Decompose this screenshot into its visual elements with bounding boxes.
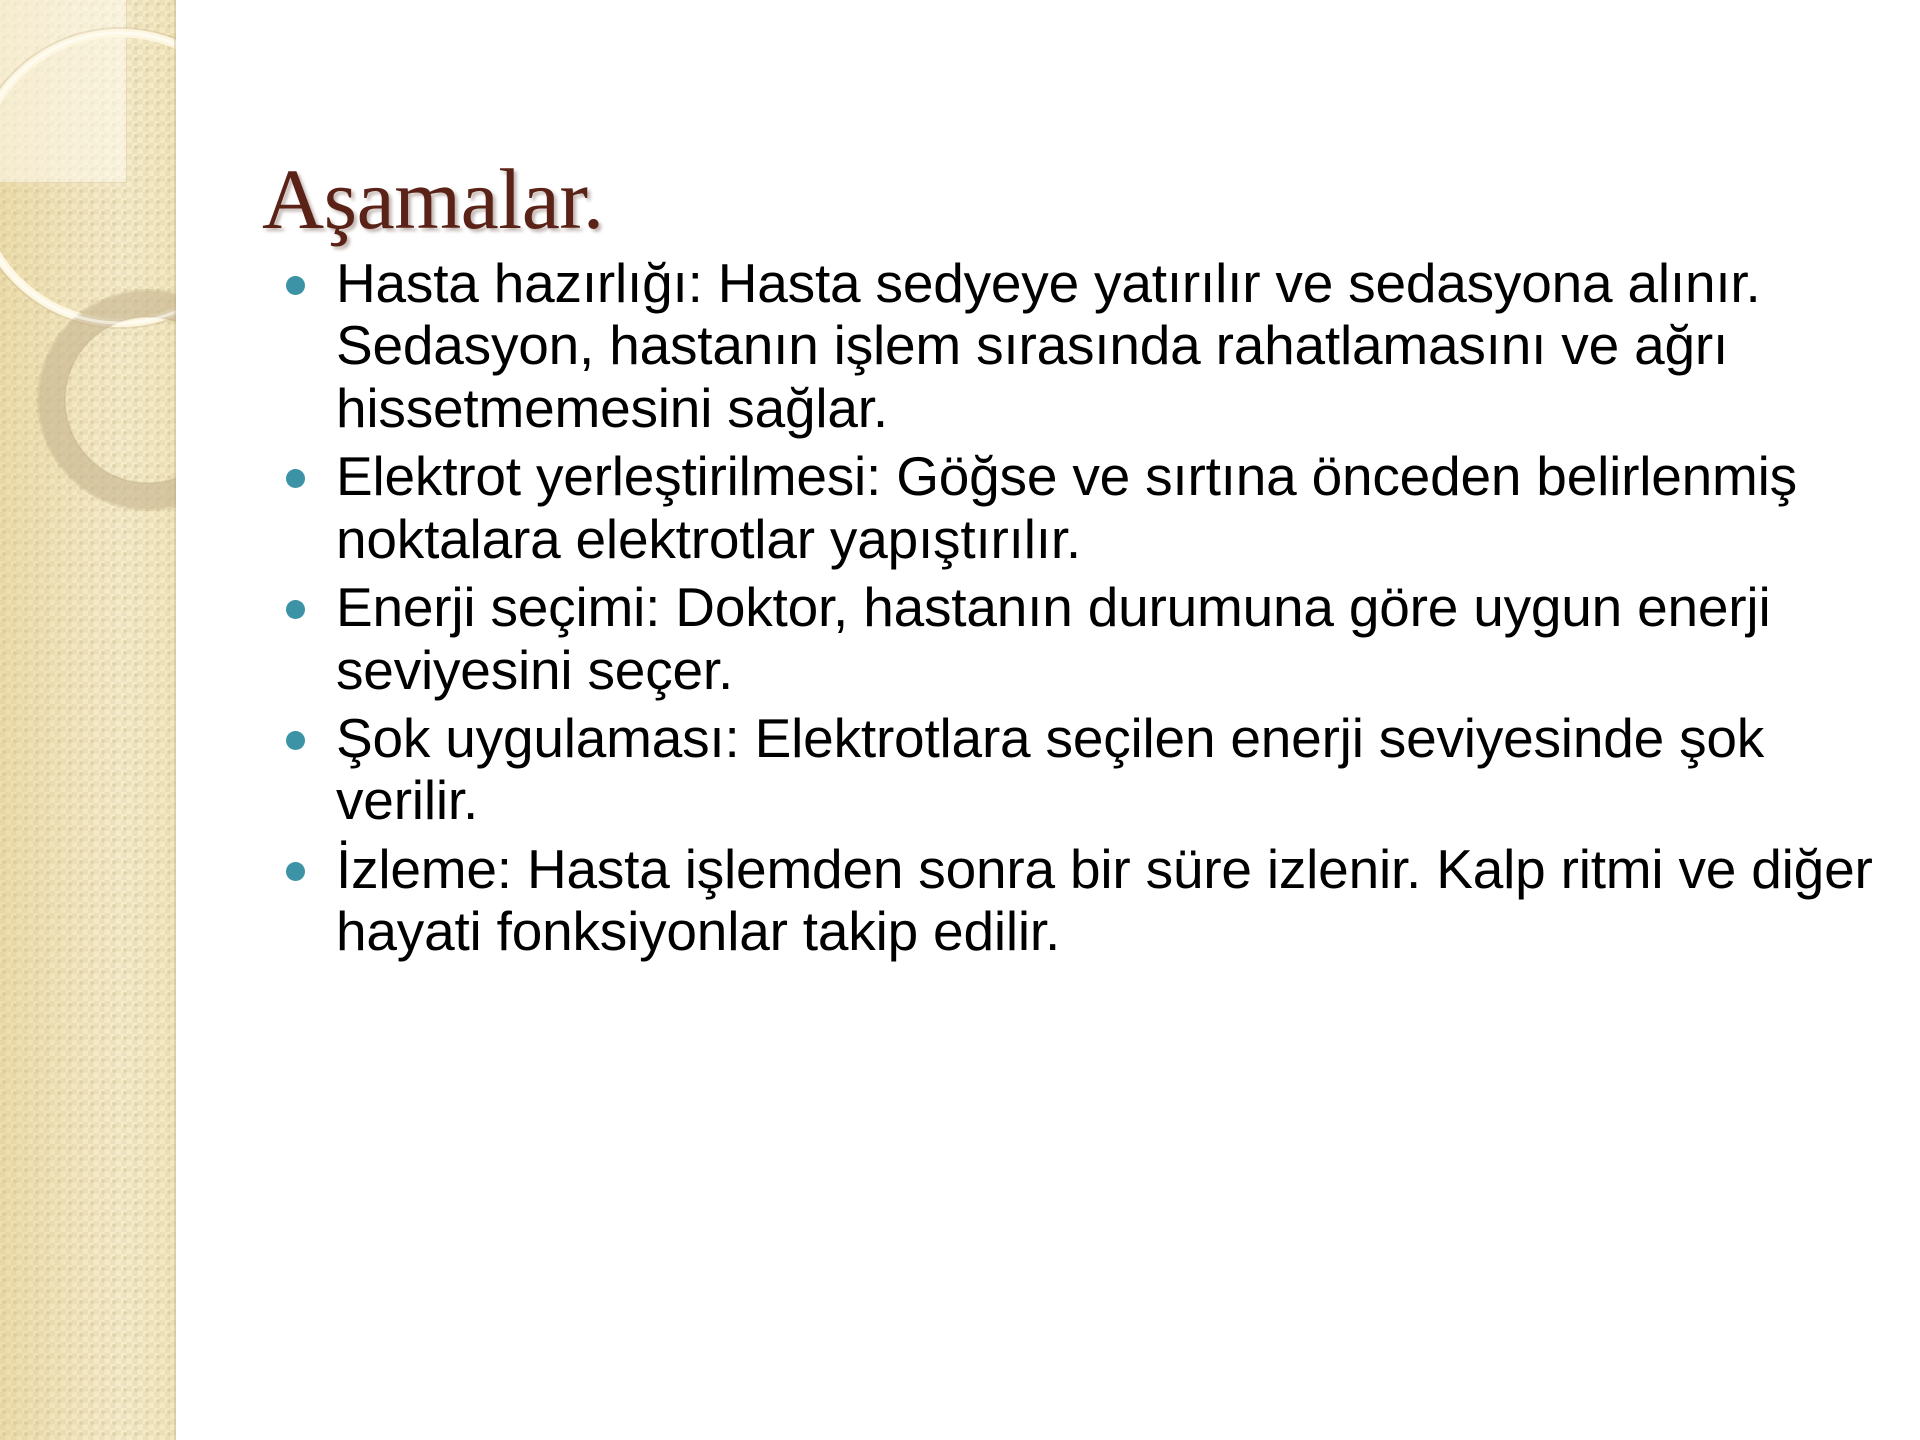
slide-title: Aşamalar.	[262, 154, 1822, 244]
cream-circle-ring	[0, 33, 176, 323]
list-item: Şok uygulaması: Elektrotlara seçilen ene…	[268, 707, 1888, 832]
decorative-sidebar	[0, 0, 176, 1440]
slide: Aşamalar. Hasta hazırlığı: Hasta sedyeye…	[0, 0, 1920, 1440]
list-item: İzleme: Hasta işlemden sonra bir süre iz…	[268, 838, 1888, 963]
list-item: Enerji seçimi: Doktor, hastanın durumuna…	[268, 576, 1888, 701]
list-item: Hasta hazırlığı: Hasta sedyeye yatırılır…	[268, 252, 1888, 439]
bullet-dot-icon	[286, 276, 305, 295]
bullet-list: Hasta hazırlığı: Hasta sedyeye yatırılır…	[268, 252, 1888, 969]
list-item-text: Hasta hazırlığı: Hasta sedyeye yatırılır…	[336, 252, 1888, 439]
list-item-text: Enerji seçimi: Doktor, hastanın durumuna…	[336, 576, 1888, 701]
list-item-text: Şok uygulaması: Elektrotlara seçilen ene…	[336, 707, 1888, 832]
bullet-dot-icon	[286, 600, 305, 619]
list-item: Elektrot yerleştirilmesi: Göğse ve sırtı…	[268, 445, 1888, 570]
sidebar-rings-graphic	[0, 0, 176, 1440]
list-item-text: İzleme: Hasta işlemden sonra bir süre iz…	[336, 838, 1888, 963]
bullet-dot-icon	[286, 731, 305, 750]
bullet-dot-icon	[286, 862, 305, 881]
sidebar-right-edge	[174, 0, 176, 1440]
tan-circle-ring	[52, 304, 176, 496]
list-item-text: Elektrot yerleştirilmesi: Göğse ve sırtı…	[336, 445, 1888, 570]
bullet-dot-icon	[286, 469, 305, 488]
